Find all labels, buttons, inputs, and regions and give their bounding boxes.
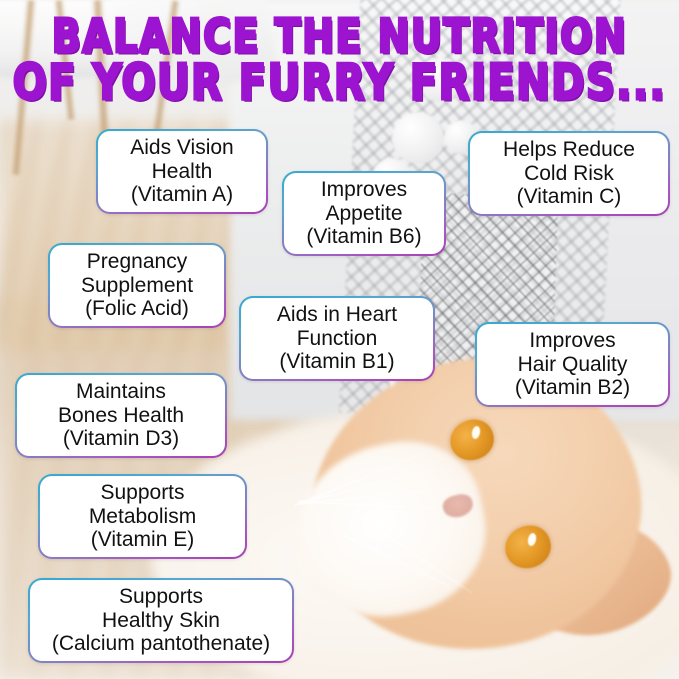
benefit-line-1: Aids Vision	[107, 136, 257, 160]
pompom	[392, 112, 444, 164]
benefit-card-appetite[interactable]: Improves Appetite (Vitamin B6)	[282, 171, 446, 256]
benefit-line-2: Cold Risk	[479, 162, 659, 186]
benefit-line-1: Improves	[293, 178, 435, 202]
benefit-nutrient: (Folic Acid)	[59, 297, 215, 321]
benefit-nutrient: (Vitamin A)	[107, 183, 257, 207]
benefit-line-2: Bones Health	[26, 404, 216, 428]
pompom	[418, 58, 462, 102]
benefit-card-vision[interactable]: Aids Vision Health (Vitamin A)	[96, 129, 268, 214]
benefit-nutrient: (Vitamin B1)	[250, 350, 424, 374]
benefit-card-skin[interactable]: Supports Healthy Skin (Calcium pantothen…	[28, 578, 294, 663]
benefit-card-metabolism[interactable]: Supports Metabolism (Vitamin E)	[38, 474, 247, 559]
benefit-card-pregnancy[interactable]: Pregnancy Supplement (Folic Acid)	[48, 243, 226, 328]
benefit-nutrient: (Vitamin C)	[479, 185, 659, 209]
benefit-line-2: Health	[107, 160, 257, 184]
infographic-canvas: Balance the Nutrition of your Furry Frie…	[0, 0, 679, 679]
benefit-line-2: Function	[250, 327, 424, 351]
benefit-line-1: Pregnancy	[59, 250, 215, 274]
benefit-card-bones[interactable]: Maintains Bones Health (Vitamin D3)	[15, 373, 227, 458]
benefit-card-cold-risk[interactable]: Helps Reduce Cold Risk (Vitamin C)	[468, 131, 670, 216]
benefit-nutrient: (Vitamin D3)	[26, 427, 216, 451]
benefit-nutrient: (Vitamin B2)	[486, 376, 659, 400]
benefit-line-1: Improves	[486, 329, 659, 353]
benefit-card-hair[interactable]: Improves Hair Quality (Vitamin B2)	[475, 322, 670, 407]
benefit-line-2: Metabolism	[49, 505, 236, 529]
benefit-card-heart[interactable]: Aids in Heart Function (Vitamin B1)	[239, 296, 435, 381]
benefit-nutrient: (Vitamin B6)	[293, 225, 435, 249]
benefit-line-1: Maintains	[26, 380, 216, 404]
benefit-line-2: Healthy Skin	[39, 609, 283, 633]
benefit-line-1: Supports	[49, 481, 236, 505]
benefit-nutrient: (Vitamin E)	[49, 528, 236, 552]
benefit-nutrient: (Calcium pantothenate)	[39, 632, 283, 656]
benefit-line-2: Supplement	[59, 274, 215, 298]
benefit-line-2: Appetite	[293, 202, 435, 226]
benefit-line-1: Supports	[39, 585, 283, 609]
benefit-line-1: Aids in Heart	[250, 303, 424, 327]
benefit-line-2: Hair Quality	[486, 353, 659, 377]
benefit-line-1: Helps Reduce	[479, 138, 659, 162]
